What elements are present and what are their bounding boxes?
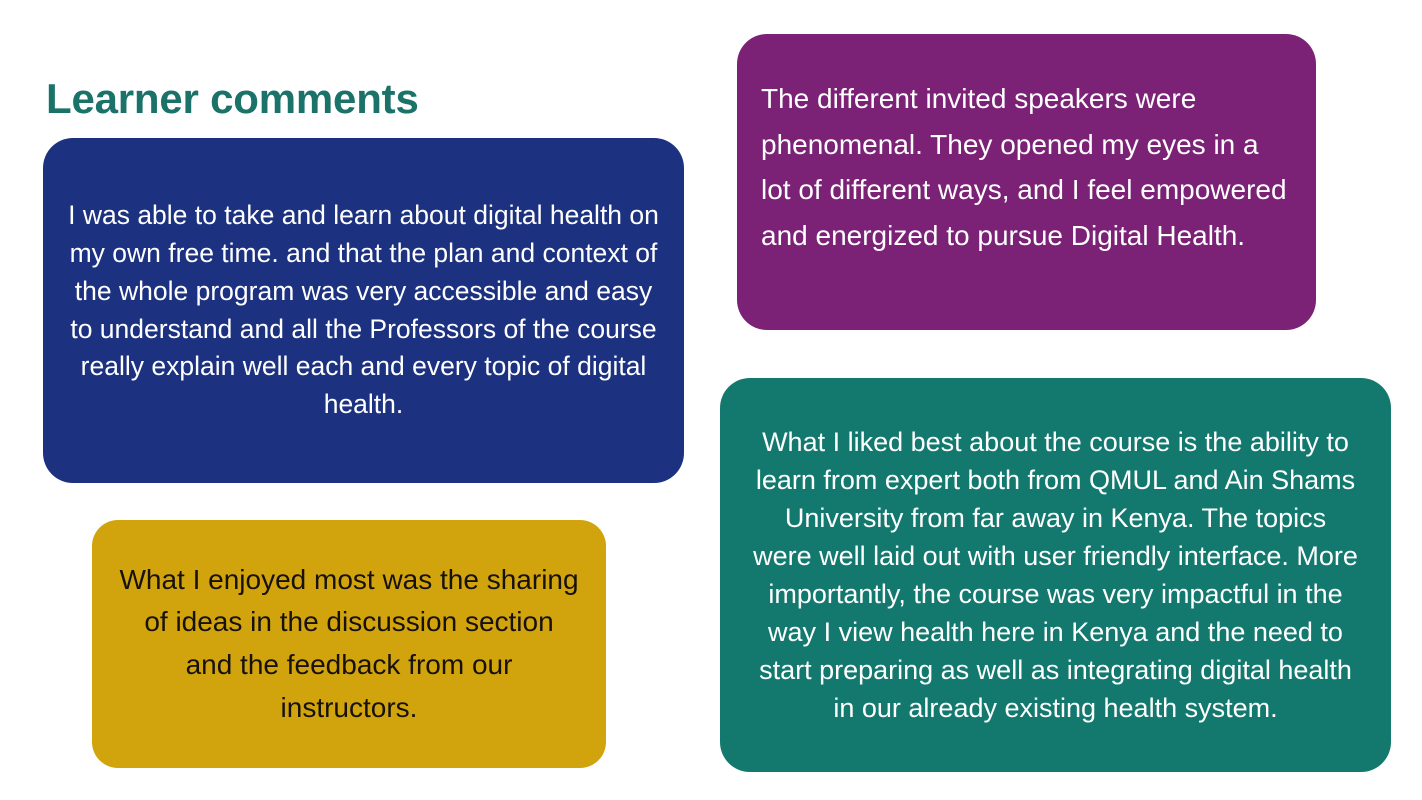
comment-text-gold: What I enjoyed most was the sharing of i… — [118, 559, 580, 729]
slide-canvas: Learner comments I was able to take and … — [0, 0, 1422, 800]
comment-card-gold: What I enjoyed most was the sharing of i… — [92, 520, 606, 768]
comment-card-purple: The different invited speakers were phen… — [737, 34, 1316, 330]
comment-text-purple: The different invited speakers were phen… — [761, 54, 1294, 259]
comment-text-blue: I was able to take and learn about digit… — [65, 197, 662, 424]
comment-card-green: What I liked best about the course is th… — [720, 378, 1391, 772]
comment-card-blue: I was able to take and learn about digit… — [43, 138, 684, 483]
comment-text-green: What I liked best about the course is th… — [752, 423, 1359, 728]
page-title: Learner comments — [46, 76, 419, 122]
